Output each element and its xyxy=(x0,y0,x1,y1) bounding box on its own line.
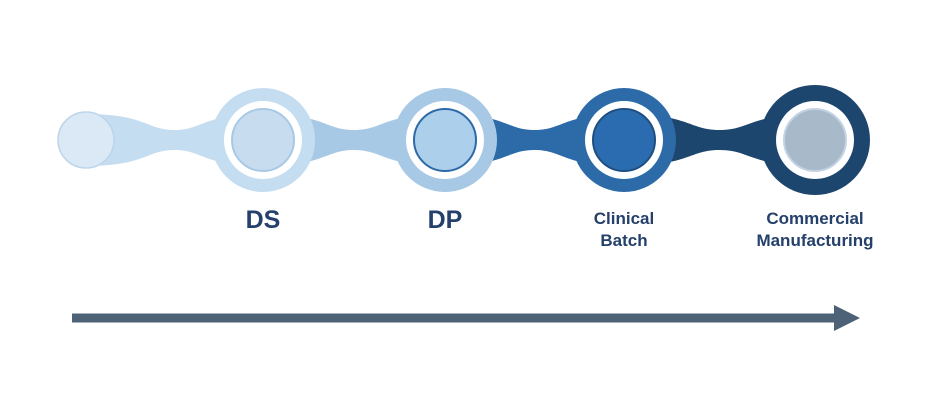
node-stage-1[interactable] xyxy=(58,112,114,168)
node-stage-2[interactable] xyxy=(211,88,315,192)
node-stage-3[interactable] xyxy=(393,88,497,192)
node-label-stage-3: DP xyxy=(428,206,463,234)
node-inner-circle xyxy=(784,109,846,171)
progress-arrow-shape xyxy=(72,305,860,331)
diagram-canvas: DSDPClinicalBatchCommercialManufacturing xyxy=(0,0,940,414)
label-line: DS xyxy=(246,206,281,234)
node-label-stage-5: CommercialManufacturing xyxy=(756,209,873,250)
label-line: DP xyxy=(428,206,463,234)
node-inner-circle xyxy=(414,109,476,171)
node-inner-circle xyxy=(232,109,294,171)
node-label-stage-2: DS xyxy=(246,206,281,234)
label-line: Commercial xyxy=(766,209,863,228)
process-chain-diagram: DSDPClinicalBatchCommercialManufacturing xyxy=(0,0,940,414)
node-stage-4[interactable] xyxy=(572,88,676,192)
label-line: Manufacturing xyxy=(756,231,873,250)
node-stage-5[interactable] xyxy=(760,85,870,195)
progress-arrow xyxy=(72,305,860,331)
labels-layer: DSDPClinicalBatchCommercialManufacturing xyxy=(246,206,874,250)
node-label-stage-4: ClinicalBatch xyxy=(594,209,654,250)
label-line: Batch xyxy=(600,231,647,250)
label-line: Clinical xyxy=(594,209,654,228)
node-inner-circle xyxy=(593,109,655,171)
node-inner-circle xyxy=(58,112,114,168)
